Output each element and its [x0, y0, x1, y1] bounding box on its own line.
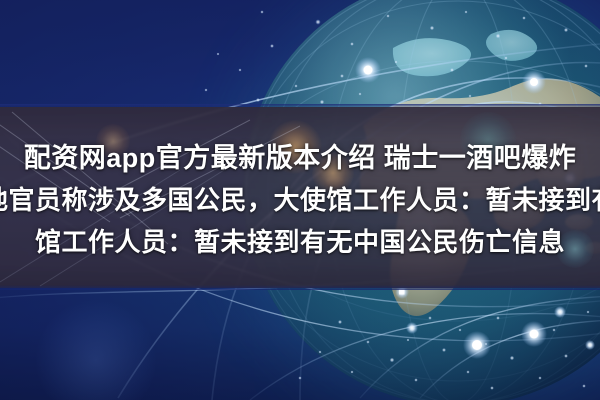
- headline-line-1: 配资网app官方最新版本介绍 瑞士一酒吧爆炸: [24, 139, 577, 177]
- headline-text-block: 配资网app官方最新版本介绍 瑞士一酒吧爆炸 地官员称涉及多国公民，大使馆工作人…: [0, 112, 600, 288]
- headline-line-2: 地官员称涉及多国公民，大使馆工作人员：暂未接到有: [0, 181, 600, 219]
- headline-line-3: 馆工作人员：暂未接到有无中国公民伤亡信息: [35, 223, 565, 261]
- news-banner-image: 配资网app官方最新版本介绍 瑞士一酒吧爆炸 地官员称涉及多国公民，大使馆工作人…: [0, 0, 600, 400]
